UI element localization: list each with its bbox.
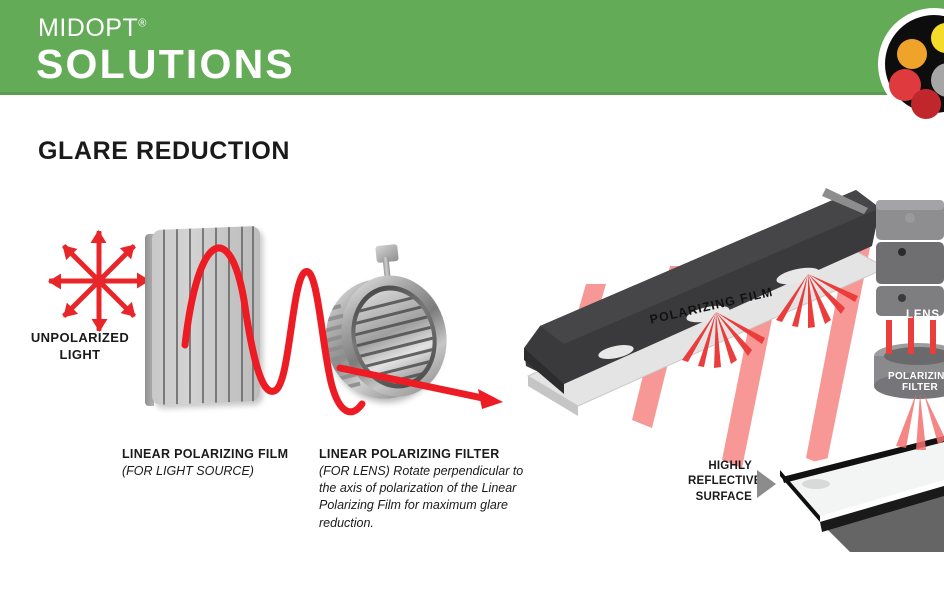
caption-film-subtitle: (FOR LIGHT SOURCE) xyxy=(122,463,322,480)
brand-midopt: MIDOPT® xyxy=(38,14,147,43)
registered-mark: ® xyxy=(138,18,147,30)
highly-reflective-line1: HIGHLY xyxy=(688,459,752,474)
page-title: GLARE REDUCTION xyxy=(38,137,290,166)
highly-reflective-line2: REFLECTIVE xyxy=(688,474,752,489)
caption-polarizing-film: LINEAR POLARIZING FILM (FOR LIGHT SOURCE… xyxy=(122,446,322,480)
logo-circle-orange xyxy=(897,39,927,69)
header-band: MIDOPT® SOLUTIONS xyxy=(0,0,944,95)
lens-polarizing-filter-label-line1: POLARIZING xyxy=(888,371,944,382)
right-diagram-svg xyxy=(520,180,944,600)
right-diagram xyxy=(520,180,944,600)
lens-label: LENS xyxy=(906,309,940,321)
brand-solutions: SOLUTIONS xyxy=(36,41,295,88)
logo-circle-yellow xyxy=(931,23,944,53)
brand-midopt-text: MIDOPT xyxy=(38,14,138,42)
lens-polarizing-filter-label-line2: FILTER xyxy=(888,382,944,393)
camera-lens-stack xyxy=(876,200,944,316)
pointer-arrow-icon xyxy=(757,470,776,498)
logo-circle-darkred xyxy=(911,89,941,119)
caption-filter-title: LINEAR POLARIZING FILTER xyxy=(319,446,534,463)
lens-polarizing-filter-label: POLARIZING FILTER xyxy=(888,371,944,393)
highly-reflective-surface-label: HIGHLY REFLECTIVE SURFACE xyxy=(688,459,752,505)
wave-path xyxy=(185,248,362,412)
highly-reflective-line3: SURFACE xyxy=(688,490,752,505)
page-root: MIDOPT® SOLUTIONS GLARE REDUCTION xyxy=(0,0,944,600)
caption-film-title: LINEAR POLARIZING FILM xyxy=(122,446,322,463)
caption-polarizing-filter: LINEAR POLARIZING FILTER (FOR LENS) Rota… xyxy=(319,446,534,532)
midopt-filter-wheel-logo xyxy=(878,8,944,120)
caption-filter-subtitle: (FOR LENS) Rotate perpendicular to the a… xyxy=(319,463,534,532)
